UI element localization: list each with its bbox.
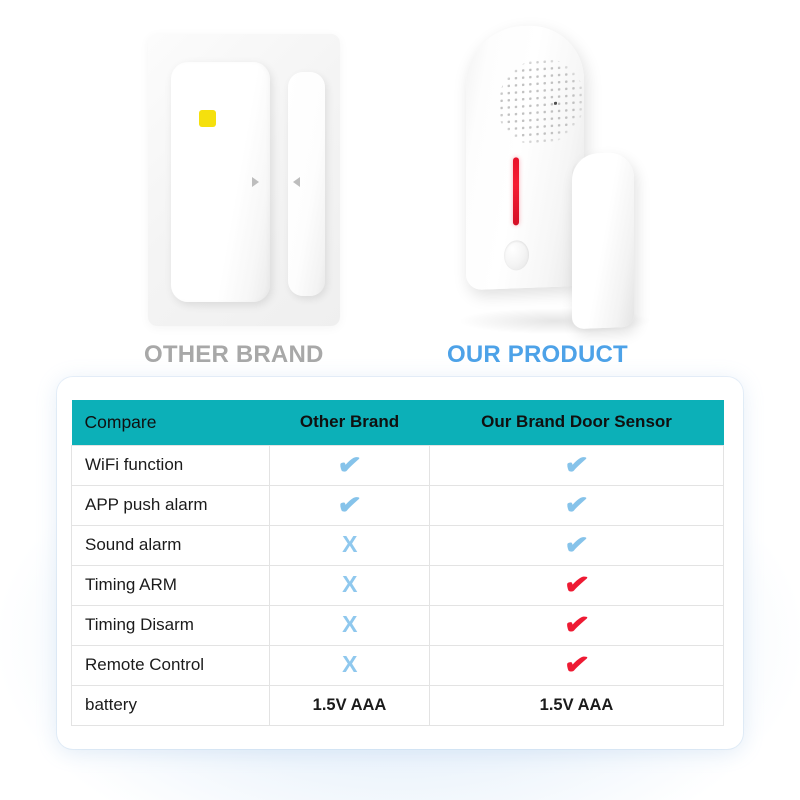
our-product-magnet-piece — [572, 152, 634, 329]
our-brand-value: ✔ — [430, 605, 724, 645]
check-icon-blue: ✔ — [563, 450, 590, 479]
other-brand-value: X — [270, 565, 430, 605]
our-product-sensor-body — [466, 24, 584, 291]
red-led-strip-icon — [513, 157, 519, 225]
column-header-our-brand: Our Brand Door Sensor — [430, 400, 724, 445]
check-icon-red: ✔ — [562, 570, 590, 600]
microphone-hole-icon — [554, 102, 557, 105]
check-icon-red: ✔ — [562, 650, 590, 680]
comparison-table: Compare Other Brand Our Brand Door Senso… — [71, 400, 724, 726]
column-header-compare: Compare — [72, 400, 270, 445]
feature-label: Sound alarm — [72, 525, 270, 565]
product-hero: OTHER BRAND OUR PRODUCT — [0, 0, 800, 378]
other-brand-value: ✔ — [270, 485, 430, 525]
our-brand-value: ✔ — [430, 645, 724, 685]
table-row: APP push alarm✔✔ — [72, 485, 724, 525]
cross-icon-blue: X — [342, 653, 357, 676]
cross-icon-blue: X — [342, 533, 357, 556]
other-brand-value: X — [270, 525, 430, 565]
table-row: Timing DisarmX✔ — [72, 605, 724, 645]
feature-label: Timing Disarm — [72, 605, 270, 645]
column-header-other-brand: Other Brand — [270, 400, 430, 445]
yellow-led-icon — [199, 110, 216, 127]
feature-label: APP push alarm — [72, 485, 270, 525]
our-brand-value: ✔ — [430, 485, 724, 525]
check-icon-blue: ✔ — [563, 490, 590, 519]
other-brand-value: 1.5V AAA — [270, 685, 430, 725]
other-brand-value: ✔ — [270, 445, 430, 485]
our-brand-value: 1.5V AAA — [430, 685, 724, 725]
feature-label: Timing ARM — [72, 565, 270, 605]
table-row: Sound alarmX✔ — [72, 525, 724, 565]
table-row: battery1.5V AAA1.5V AAA — [72, 685, 724, 725]
other-brand-value: X — [270, 645, 430, 685]
cross-icon-blue: X — [342, 613, 357, 636]
table-header: Compare Other Brand Our Brand Door Senso… — [72, 400, 724, 445]
check-icon-red: ✔ — [562, 610, 590, 640]
other-brand-value: X — [270, 605, 430, 645]
speaker-grille-icon — [498, 55, 584, 147]
feature-label: Remote Control — [72, 645, 270, 685]
table-row: Timing ARMX✔ — [72, 565, 724, 605]
check-icon-blue: ✔ — [336, 450, 363, 479]
check-icon-blue: ✔ — [563, 530, 590, 559]
table-row: Remote ControlX✔ — [72, 645, 724, 685]
triangle-right-icon — [252, 177, 259, 187]
other-brand-caption: OTHER BRAND — [144, 341, 324, 369]
our-brand-value: ✔ — [430, 525, 724, 565]
table-header-row: Compare Other Brand Our Brand Door Senso… — [72, 400, 724, 445]
table-row: WiFi function✔✔ — [72, 445, 724, 485]
our-brand-value: ✔ — [430, 445, 724, 485]
our-product-image — [452, 18, 682, 348]
round-button-icon — [504, 240, 529, 271]
page-background: OTHER BRAND OUR PRODUCT Compare Other Br… — [0, 0, 800, 800]
comparison-card: Compare Other Brand Our Brand Door Senso… — [57, 377, 743, 749]
check-icon-blue: ✔ — [336, 490, 363, 519]
triangle-left-icon — [293, 177, 300, 187]
our-product-caption: OUR PRODUCT — [447, 341, 628, 369]
our-brand-value: ✔ — [430, 565, 724, 605]
table-body: WiFi function✔✔APP push alarm✔✔Sound ala… — [72, 445, 724, 725]
feature-label: battery — [72, 685, 270, 725]
feature-label: WiFi function — [72, 445, 270, 485]
cross-icon-blue: X — [342, 573, 357, 596]
